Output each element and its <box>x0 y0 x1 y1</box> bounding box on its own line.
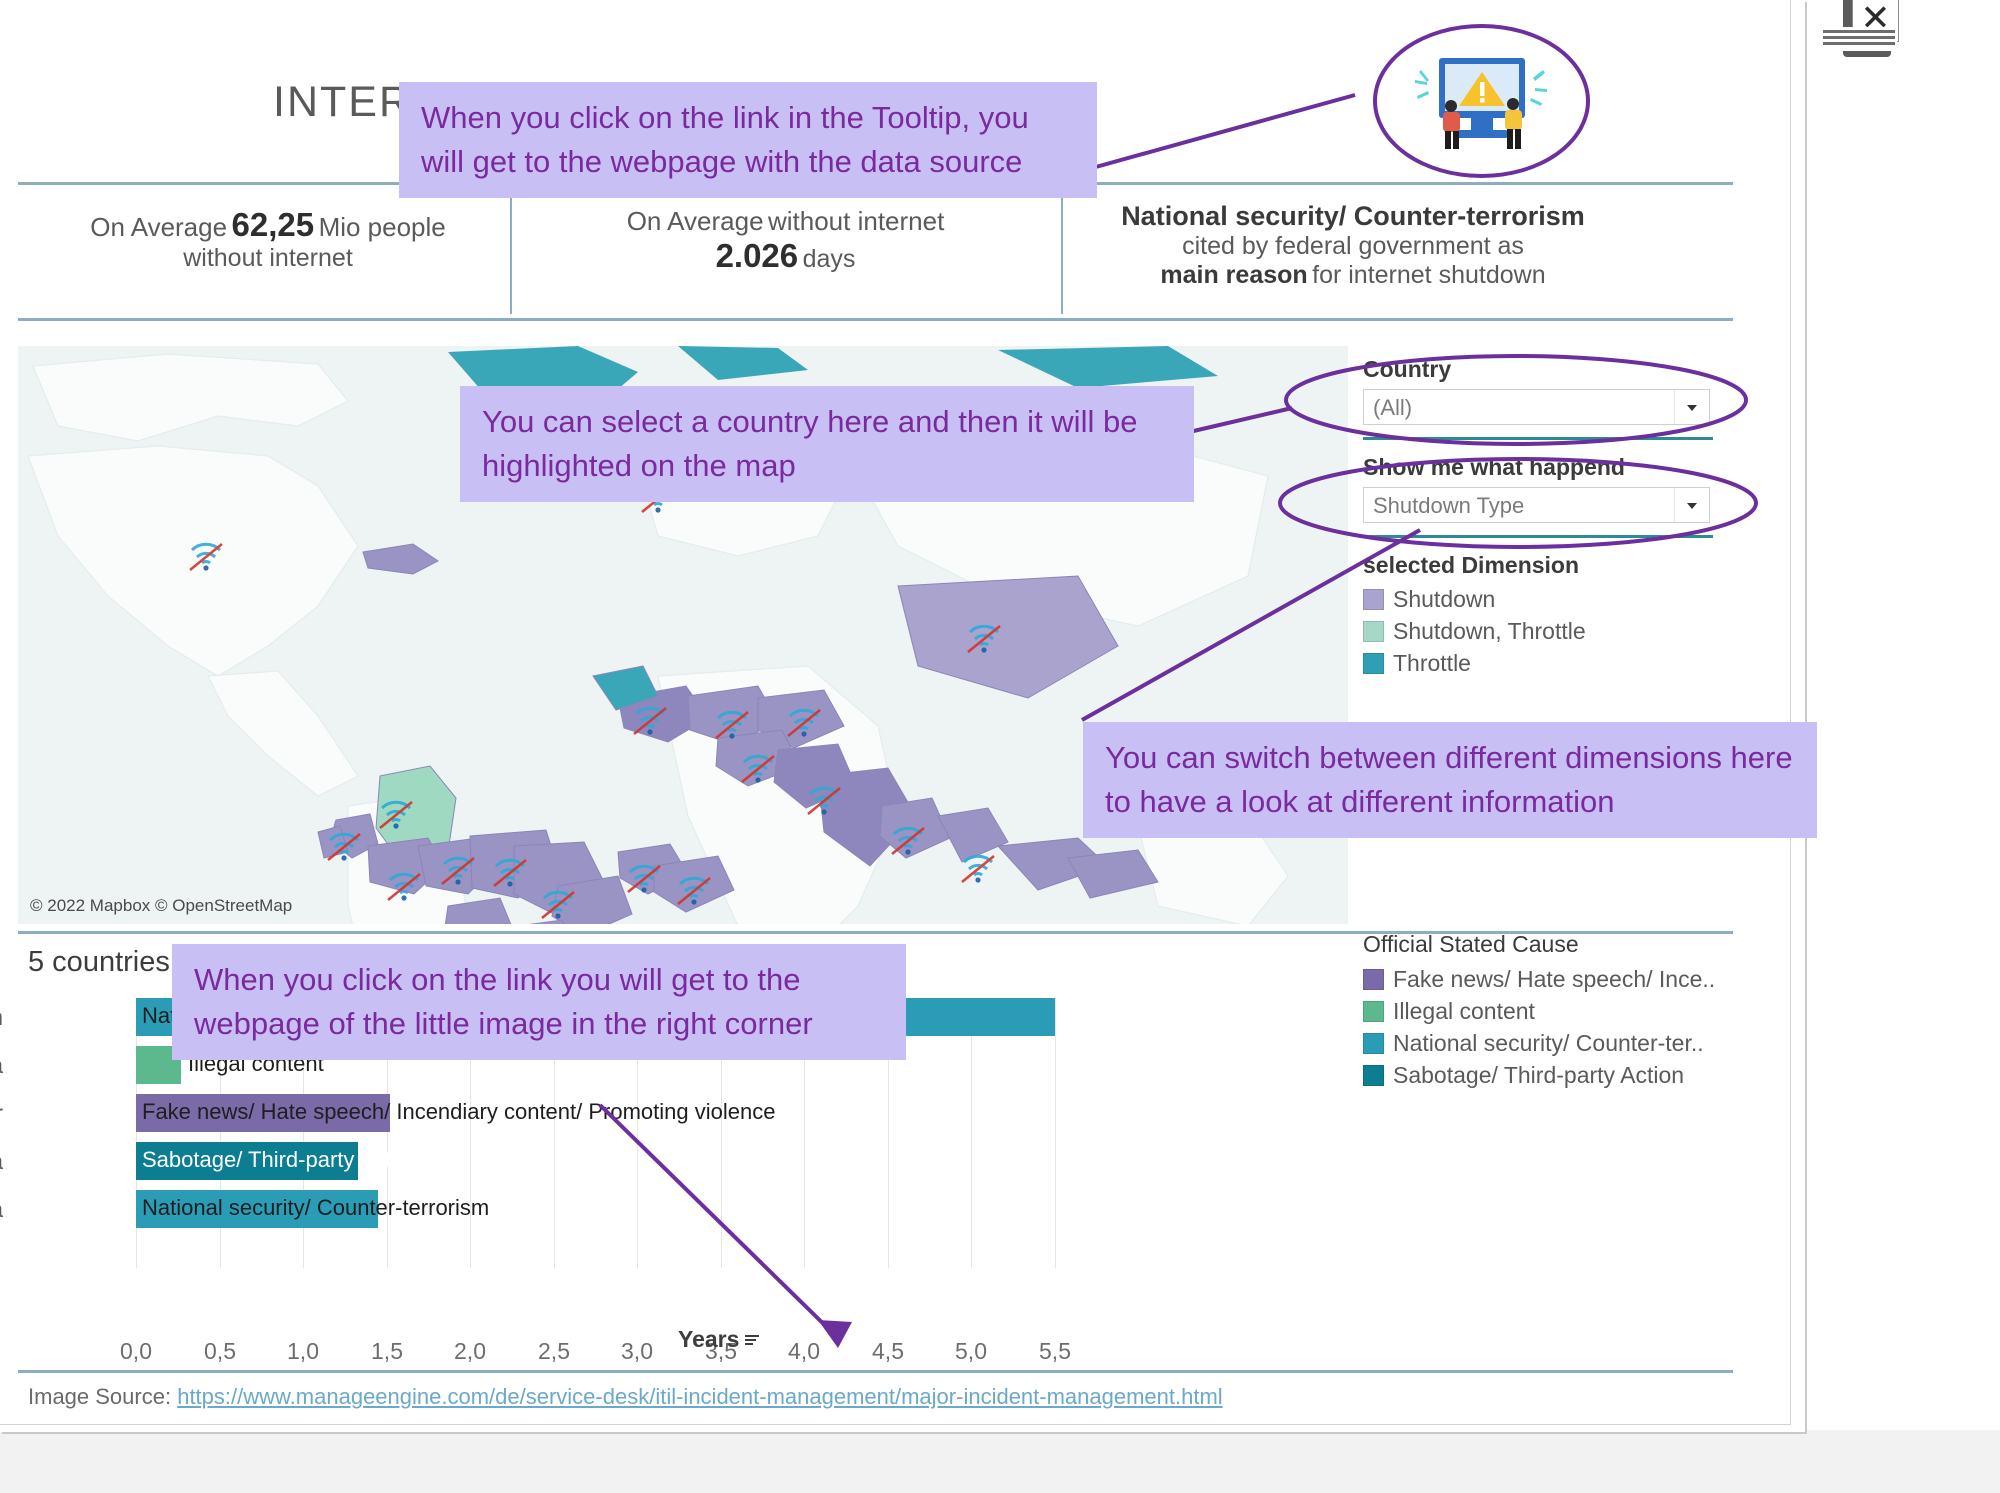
hero-image-callout <box>1373 24 1588 176</box>
kpi-separator-2 <box>1061 194 1063 314</box>
slide-canvas: INTERNET SHUTDOWNS <box>0 0 1791 1425</box>
legend-item[interactable]: National security/ Counter-ter.. <box>1363 1030 1743 1057</box>
legend-item[interactable]: Fake news/ Hate speech/ Ince.. <box>1363 966 1743 993</box>
map-attribution: © 2022 Mapbox © OpenStreetMap <box>30 896 292 916</box>
callout-bar-link: When you click on the link you will get … <box>172 944 906 1060</box>
category-label: India <box>0 1196 3 1223</box>
legend-item[interactable]: Shutdown, Throttle <box>1363 618 1733 645</box>
legend-label: Shutdown, Throttle <box>1393 618 1586 645</box>
country-select[interactable]: (All) <box>1363 389 1710 425</box>
controls-divider-1 <box>1363 437 1713 440</box>
toolbar-lines-icon[interactable] <box>1821 27 1897 51</box>
x-tick: 1,5 <box>371 1338 403 1365</box>
kpi-separator-1 <box>510 194 512 314</box>
legend-label: Sabotage/ Third-party Action <box>1393 1062 1684 1089</box>
presentation-viewer: INTERNET SHUTDOWNS <box>0 0 1805 1432</box>
bottom-blank-strip <box>0 1433 2000 1493</box>
kpi2-prefix: On Average <box>627 206 764 236</box>
image-source: Image Source: https://www.manageengine.c… <box>28 1384 1223 1410</box>
kpi2-unit: days <box>803 245 856 273</box>
kpi3-line3-rest: for internet shutdown <box>1312 261 1545 289</box>
dimension-legend: selected Dimension Shutdown Shutdown, Th… <box>1363 552 1733 677</box>
legend-swatch <box>1363 1001 1384 1022</box>
chevron-down-icon[interactable] <box>1674 390 1709 424</box>
country-filter: Country (All) <box>1363 356 1733 425</box>
x-tick: 5,5 <box>1039 1338 1071 1365</box>
x-tick: 0,5 <box>204 1338 236 1365</box>
country-filter-label: Country <box>1363 356 1733 383</box>
legend-swatch <box>1363 1065 1384 1086</box>
legend-swatch <box>1363 1033 1384 1054</box>
x-tick: 2,5 <box>538 1338 570 1365</box>
category-label: Pakistan <box>0 1004 3 1031</box>
bar-row[interactable]: Fake news/ Hate speech/ Incendiary conte… <box>136 1094 1186 1132</box>
right-blank-strip <box>1806 0 2000 1430</box>
kpi3-line2: cited by federal government as <box>1073 232 1633 261</box>
x-tick: 5,0 <box>955 1338 987 1365</box>
chevron-down-icon[interactable] <box>1674 488 1709 522</box>
divider-footer <box>18 1370 1733 1373</box>
divider-kpi-bottom <box>18 318 1733 321</box>
kpi3-line1: National security/ Counter-terrorism <box>1073 201 1633 232</box>
x-tick: 1,0 <box>287 1338 319 1365</box>
kpi1-suffix: Mio people <box>319 212 446 242</box>
bar-row[interactable]: Sabotage/ Third-party Action <box>136 1142 1186 1180</box>
x-tick: 0,0 <box>120 1338 152 1365</box>
bar-value-label: Sabotage/ Third-party Action <box>142 1147 420 1173</box>
legend-item[interactable]: Sabotage/ Third-party Action <box>1363 1062 1743 1089</box>
legend-swatch <box>1363 589 1384 610</box>
bar-row[interactable]: National security/ Counter-terrorism <box>136 1190 1186 1228</box>
legend-label: National security/ Counter-ter.. <box>1393 1030 1704 1057</box>
kpi2-suffix: without internet <box>768 206 944 236</box>
kpi1-value: 62,25 <box>232 206 315 243</box>
callout-country-select: You can select a country here and then i… <box>460 386 1194 502</box>
kpi-average-days: On Average without internet 2.026 days <box>523 206 1048 275</box>
legend-label: Fake news/ Hate speech/ Ince.. <box>1393 966 1715 993</box>
kpi1-prefix: On Average <box>90 212 227 242</box>
tableau-dashboard: INTERNET SHUTDOWNS <box>18 6 1740 1418</box>
callout-tooltip-link: When you click on the link in the Toolti… <box>399 82 1097 198</box>
legend-label: Throttle <box>1393 650 1471 677</box>
dimension-filter-label: Show me what happend <box>1363 454 1733 481</box>
legend-label: Illegal content <box>1393 998 1535 1025</box>
dimension-filter: Show me what happend Shutdown Type <box>1363 454 1733 523</box>
controls-divider-2 <box>1363 535 1713 538</box>
dimension-select[interactable]: Shutdown Type <box>1363 487 1710 523</box>
cause-legend-title: Official Stated Cause <box>1363 931 1743 958</box>
category-label: Ethiopia <box>0 1148 3 1175</box>
x-tick: 4,0 <box>788 1338 820 1365</box>
filter-panel: Country (All) Show me what happend Shutd… <box>1363 356 1733 716</box>
bar-value-label: Fake news/ Hate speech/ Incendiary conte… <box>142 1099 775 1125</box>
legend-label: Shutdown <box>1393 586 1495 613</box>
category-label: Myanmar <box>0 1100 3 1127</box>
official-cause-legend: Official Stated Cause Fake news/ Hate sp… <box>1363 931 1743 1094</box>
callout-switch-dimension: You can switch between different dimensi… <box>1083 722 1817 838</box>
kpi-average-people: On Average 62,25 Mio people without inte… <box>48 206 488 273</box>
legend-swatch <box>1363 621 1384 642</box>
legend-swatch <box>1363 653 1384 674</box>
image-source-label: Image Source: <box>28 1384 171 1409</box>
x-tick: 3,0 <box>621 1338 653 1365</box>
x-axis-title[interactable]: Years <box>678 1326 759 1353</box>
legend-item[interactable]: Throttle <box>1363 650 1733 677</box>
dimension-legend-title: selected Dimension <box>1363 552 1733 579</box>
x-tick: 2,0 <box>454 1338 486 1365</box>
country-select-value: (All) <box>1373 395 1412 421</box>
category-label: Uganda <box>0 1052 3 1079</box>
bar-value-label: National security/ Counter-terrorism <box>142 1195 489 1221</box>
kpi1-sub: without internet <box>48 244 488 273</box>
kpi2-value: 2.026 <box>716 237 799 274</box>
legend-item[interactable]: Illegal content <box>1363 998 1743 1025</box>
legend-swatch <box>1363 969 1384 990</box>
image-source-link[interactable]: https://www.manageengine.com/de/service-… <box>177 1384 1222 1409</box>
x-tick: 4,5 <box>872 1338 904 1365</box>
dimension-select-value: Shutdown Type <box>1373 493 1524 519</box>
computer-warning-icon <box>1409 44 1549 154</box>
kpi-main-reason: National security/ Counter-terrorism cit… <box>1073 201 1633 290</box>
legend-item[interactable]: Shutdown <box>1363 586 1733 613</box>
sort-icon[interactable] <box>745 1333 759 1347</box>
kpi3-line3-bold: main reason <box>1160 261 1307 289</box>
x-axis-title-text: Years <box>678 1326 739 1352</box>
